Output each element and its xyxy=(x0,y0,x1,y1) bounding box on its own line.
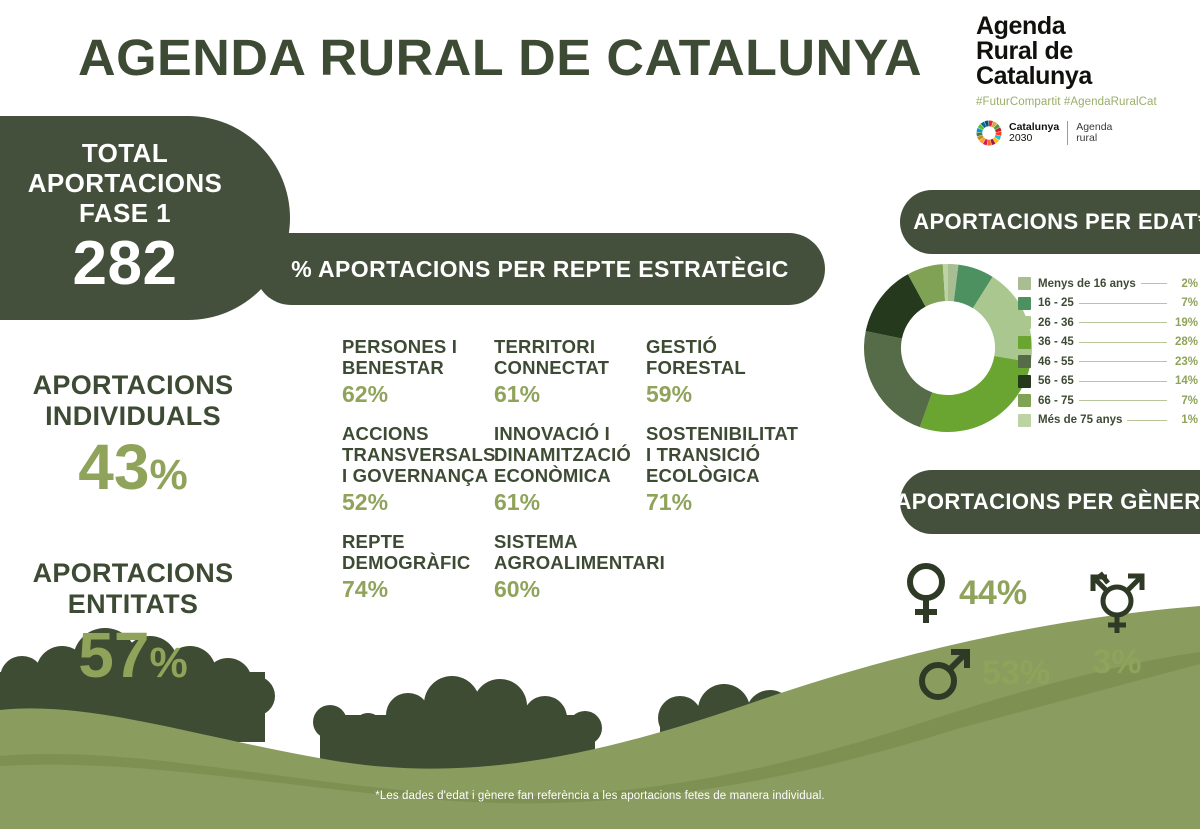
female-icon xyxy=(903,560,949,626)
legend-swatch xyxy=(1018,394,1031,407)
stat-entitats-number: 57 xyxy=(78,619,149,691)
brand-block: Agenda Rural de Catalunya #FuturComparti… xyxy=(976,14,1186,146)
stat-individuals-value: 43% xyxy=(18,434,248,508)
legend-value: 1% xyxy=(1172,414,1198,426)
challenge-name: SOSTENIBILITAT I TRANSICIÓ ECOLÒGICA xyxy=(646,423,794,486)
legend-value: 28% xyxy=(1172,336,1198,348)
legend-value: 2% xyxy=(1172,278,1198,290)
legend-row: 26 - 3619% xyxy=(1018,313,1198,333)
challenge-name: REPTE DEMOGRÀFIC xyxy=(342,531,490,573)
age-legend: Menys de 16 anys2%16 - 257%26 - 3619%36 … xyxy=(1018,274,1198,430)
age-donut-chart xyxy=(862,262,1034,434)
challenge-value: 74% xyxy=(342,576,490,602)
age-section-heading: APORTACIONS PER EDAT* xyxy=(913,209,1200,235)
brand-title-line2: Rural de xyxy=(976,39,1186,64)
strategic-challenges-header: % APORTACIONS PER REPTE ESTRATÈGIC xyxy=(255,233,825,305)
legend-leader-line xyxy=(1079,400,1167,401)
stat-entity-contributions: APORTACIONS ENTITATS 57% xyxy=(18,558,248,696)
legend-row: 36 - 4528% xyxy=(1018,333,1198,353)
challenges-grid: PERSONES I BENESTAR 62% TERRITORI CONNEC… xyxy=(342,336,812,618)
legend-leader-line xyxy=(1141,283,1167,284)
challenge-value: 61% xyxy=(494,489,642,515)
legend-swatch xyxy=(1018,336,1031,349)
legend-label: 26 - 36 xyxy=(1038,317,1074,329)
transgender-icon xyxy=(1082,565,1152,637)
challenge-value: 62% xyxy=(342,381,490,407)
total-panel-text: TOTAL APORTACIONS FASE 1 282 xyxy=(0,116,250,296)
gender-male-value: 53% xyxy=(982,654,1050,693)
catalunya-2030-logo: Catalunya 2030 xyxy=(1009,122,1059,145)
challenge-value: 61% xyxy=(494,381,642,407)
agenda-rural-logo: Agenda rural xyxy=(1076,122,1112,145)
legend-leader-line xyxy=(1079,361,1167,362)
donut-slice xyxy=(864,331,932,427)
legend-value: 19% xyxy=(1172,317,1198,329)
infographic-page: AGENDA RURAL DE CATALUNYA Agenda Rural d… xyxy=(0,0,1200,829)
stat-individuals-number: 43 xyxy=(78,431,149,503)
gender-trans-stat: 3% xyxy=(1082,565,1152,682)
legend-label: 16 - 25 xyxy=(1038,297,1074,309)
legend-row: Més de 75 anys1% xyxy=(1018,411,1198,431)
challenge-item: ACCIONS TRANSVERSALS I GOVERNANÇA 52% xyxy=(342,423,490,515)
brand-title-line3: Catalunya xyxy=(976,64,1186,89)
footnote: *Les dades d'edat i gènere fan referènci… xyxy=(0,790,1200,802)
challenge-value: 60% xyxy=(494,576,642,602)
challenge-item: SISTEMA AGROALIMENTARI 60% xyxy=(494,531,642,602)
legend-swatch xyxy=(1018,375,1031,388)
gender-section-header: APORTACIONS PER GÈNERE* xyxy=(900,470,1200,534)
logo-row: Catalunya 2030 Agenda rural xyxy=(976,120,1186,146)
logo-agenda-line2: rural xyxy=(1076,133,1112,145)
legend-label: 46 - 55 xyxy=(1038,356,1074,368)
legend-label: Més de 75 anys xyxy=(1038,414,1122,426)
stat-entitats-value: 57% xyxy=(18,622,248,696)
logo-year-text: 2030 xyxy=(1009,133,1059,145)
legend-label: 66 - 75 xyxy=(1038,395,1074,407)
donut-slice xyxy=(920,356,1031,432)
total-panel-line3: FASE 1 xyxy=(0,198,250,228)
brand-title: Agenda Rural de Catalunya xyxy=(976,14,1186,89)
legend-value: 7% xyxy=(1172,297,1198,309)
male-icon xyxy=(918,645,972,701)
legend-row: 66 - 757% xyxy=(1018,391,1198,411)
challenges-row-1: PERSONES I BENESTAR 62% TERRITORI CONNEC… xyxy=(342,336,812,407)
total-panel-line1: TOTAL xyxy=(0,138,250,168)
total-panel-line2: APORTACIONS xyxy=(0,168,250,198)
challenge-name: GESTIÓ FORESTAL xyxy=(646,336,794,378)
total-panel-value: 282 xyxy=(0,232,250,296)
challenges-row-3: REPTE DEMOGRÀFIC 74% SISTEMA AGROALIMENT… xyxy=(342,531,812,602)
age-section-header: APORTACIONS PER EDAT* xyxy=(900,190,1200,254)
logo-divider xyxy=(1067,121,1068,145)
challenge-value: 71% xyxy=(646,489,794,515)
challenge-name: TERRITORI CONNECTAT xyxy=(494,336,642,378)
challenges-row-2: ACCIONS TRANSVERSALS I GOVERNANÇA 52% IN… xyxy=(342,423,812,515)
strategic-challenges-heading: % APORTACIONS PER REPTE ESTRATÈGIC xyxy=(291,256,789,283)
challenge-name: INNOVACIÓ I DINAMITZACIÓ ECONÒMICA xyxy=(494,423,642,486)
legend-swatch xyxy=(1018,414,1031,427)
challenge-name: PERSONES I BENESTAR xyxy=(342,336,490,378)
legend-label: 36 - 45 xyxy=(1038,336,1074,348)
hashtags: #FuturCompartit #AgendaRuralCat xyxy=(976,96,1186,108)
legend-value: 23% xyxy=(1172,356,1198,368)
gender-male-stat: 53% xyxy=(918,645,1050,701)
legend-leader-line xyxy=(1079,322,1167,323)
challenge-name: SISTEMA AGROALIMENTARI xyxy=(494,531,642,573)
gender-female-value: 44% xyxy=(959,574,1027,613)
challenge-item: PERSONES I BENESTAR 62% xyxy=(342,336,490,407)
legend-row: Menys de 16 anys2% xyxy=(1018,274,1198,294)
legend-swatch xyxy=(1018,277,1031,290)
legend-value: 7% xyxy=(1172,395,1198,407)
stat-individuals-label-2: INDIVIDUALS xyxy=(18,401,248,432)
legend-leader-line xyxy=(1079,342,1167,343)
legend-swatch xyxy=(1018,297,1031,310)
challenge-value: 52% xyxy=(342,489,490,515)
legend-row: 46 - 5523% xyxy=(1018,352,1198,372)
page-title: AGENDA RURAL DE CATALUNYA xyxy=(78,28,922,87)
challenge-name: ACCIONS TRANSVERSALS I GOVERNANÇA xyxy=(342,423,490,486)
challenge-item: INNOVACIÓ I DINAMITZACIÓ ECONÒMICA 61% xyxy=(494,423,642,515)
gender-trans-value: 3% xyxy=(1092,643,1141,682)
challenge-item: GESTIÓ FORESTAL 59% xyxy=(646,336,794,407)
gender-female-stat: 44% xyxy=(903,560,1027,626)
challenge-item: REPTE DEMOGRÀFIC 74% xyxy=(342,531,490,602)
challenge-item: TERRITORI CONNECTAT 61% xyxy=(494,336,642,407)
legend-row: 56 - 6514% xyxy=(1018,372,1198,392)
stat-individuals-label-1: APORTACIONS xyxy=(18,370,248,401)
stat-entitats-label-1: APORTACIONS xyxy=(18,558,248,589)
challenge-item: SOSTENIBILITAT I TRANSICIÓ ECOLÒGICA 71% xyxy=(646,423,794,515)
brand-title-line1: Agenda xyxy=(976,14,1186,39)
legend-leader-line xyxy=(1079,303,1167,304)
stat-individuals-percent-sign: % xyxy=(149,451,187,499)
legend-swatch xyxy=(1018,316,1031,329)
gender-section-heading: APORTACIONS PER GÈNERE* xyxy=(895,489,1200,515)
legend-swatch xyxy=(1018,355,1031,368)
challenge-item-empty xyxy=(646,531,794,602)
legend-value: 14% xyxy=(1172,375,1198,387)
stat-individual-contributions: APORTACIONS INDIVIDUALS 43% xyxy=(18,370,248,508)
stat-entitats-label-2: ENTITATS xyxy=(18,589,248,620)
legend-leader-line xyxy=(1127,420,1167,421)
legend-leader-line xyxy=(1079,381,1167,382)
legend-label: Menys de 16 anys xyxy=(1038,278,1136,290)
stat-entitats-percent-sign: % xyxy=(149,639,187,687)
sdg-wheel-icon xyxy=(976,120,1002,146)
donut-svg xyxy=(862,262,1034,434)
legend-label: 56 - 65 xyxy=(1038,375,1074,387)
total-contributions-panel: TOTAL APORTACIONS FASE 1 282 xyxy=(0,116,290,320)
challenge-value: 59% xyxy=(646,381,794,407)
legend-row: 16 - 257% xyxy=(1018,294,1198,314)
